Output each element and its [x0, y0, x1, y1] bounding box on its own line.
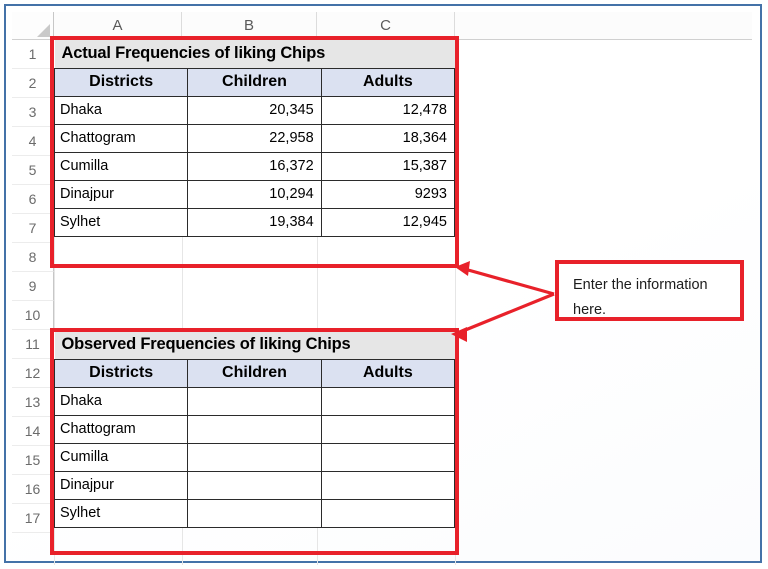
- table-observed-frequencies[interactable]: Observed Frequencies of liking Chips Dis…: [54, 331, 455, 528]
- cell-district[interactable]: Chattogram: [55, 124, 188, 152]
- table-row[interactable]: Cumilla: [55, 443, 455, 471]
- row-header-9[interactable]: 9: [12, 272, 54, 301]
- cell-children[interactable]: 20,345: [188, 96, 321, 124]
- table-title-row: Actual Frequencies of liking Chips: [55, 40, 455, 68]
- row-header-4[interactable]: 4: [12, 127, 54, 156]
- cell-adults[interactable]: 12,478: [321, 96, 454, 124]
- row-header-2[interactable]: 2: [12, 69, 54, 98]
- header-children: Children: [188, 68, 321, 96]
- cell-children-empty[interactable]: [188, 471, 321, 499]
- callout-line-2: here.: [573, 298, 728, 323]
- row-header-8[interactable]: 8: [12, 243, 54, 272]
- cell-adults-empty[interactable]: [321, 387, 454, 415]
- table-header-row: Districts Children Adults: [55, 68, 455, 96]
- arrow-line-lower: [458, 294, 554, 333]
- cell-children-empty[interactable]: [188, 415, 321, 443]
- row-header-13[interactable]: 13: [12, 388, 54, 417]
- arrow-line-upper: [461, 268, 554, 294]
- cell-district[interactable]: Cumilla: [55, 152, 188, 180]
- table-row[interactable]: Sylhet 19,384 12,945: [55, 208, 455, 236]
- cell-children-empty[interactable]: [188, 443, 321, 471]
- cell-district[interactable]: Dinajpur: [55, 471, 188, 499]
- table-header-row: Districts Children Adults: [55, 359, 455, 387]
- row-header-7[interactable]: 7: [12, 214, 54, 243]
- header-adults: Adults: [321, 68, 454, 96]
- cell-adults-empty[interactable]: [321, 499, 454, 527]
- table-row[interactable]: Chattogram 22,958 18,364: [55, 124, 455, 152]
- row-header-12[interactable]: 12: [12, 359, 54, 388]
- cell-district[interactable]: Chattogram: [55, 415, 188, 443]
- column-header-c[interactable]: C: [317, 12, 455, 40]
- table-row[interactable]: Dinajpur: [55, 471, 455, 499]
- table-row[interactable]: Dinajpur 10,294 9293: [55, 180, 455, 208]
- gridline: [455, 40, 456, 565]
- cell-children[interactable]: 16,372: [188, 152, 321, 180]
- table-row[interactable]: Cumilla 16,372 15,387: [55, 152, 455, 180]
- table-row[interactable]: Dhaka 20,345 12,478: [55, 96, 455, 124]
- cell-district[interactable]: Cumilla: [55, 443, 188, 471]
- select-all-button[interactable]: [12, 12, 54, 40]
- cell-children[interactable]: 19,384: [188, 208, 321, 236]
- worksheet-surface: A B C 1234567891011121314151617 Actual F…: [6, 6, 760, 561]
- row-header-17[interactable]: 17: [12, 504, 54, 533]
- header-districts: Districts: [55, 68, 188, 96]
- header-adults: Adults: [321, 359, 454, 387]
- callout-line-1: Enter the information: [573, 273, 728, 298]
- table-actual-title: Actual Frequencies of liking Chips: [55, 40, 455, 68]
- column-header-b[interactable]: B: [182, 12, 317, 40]
- table-row[interactable]: Dhaka: [55, 387, 455, 415]
- cell-children[interactable]: 22,958: [188, 124, 321, 152]
- header-districts: Districts: [55, 359, 188, 387]
- row-header-3[interactable]: 3: [12, 98, 54, 127]
- cell-adults-empty[interactable]: [321, 471, 454, 499]
- row-header-6[interactable]: 6: [12, 185, 54, 214]
- row-header-5[interactable]: 5: [12, 156, 54, 185]
- table-row[interactable]: Chattogram: [55, 415, 455, 443]
- table-title-row: Observed Frequencies of liking Chips: [55, 331, 455, 359]
- select-all-triangle-icon: [37, 24, 50, 37]
- arrow-head-upper: [455, 261, 470, 276]
- column-header-d[interactable]: [455, 12, 752, 40]
- cell-adults-empty[interactable]: [321, 443, 454, 471]
- cell-district[interactable]: Sylhet: [55, 208, 188, 236]
- cell-district[interactable]: Dinajpur: [55, 180, 188, 208]
- header-children: Children: [188, 359, 321, 387]
- table-actual-frequencies[interactable]: Actual Frequencies of liking Chips Distr…: [54, 40, 455, 237]
- cell-adults[interactable]: 15,387: [321, 152, 454, 180]
- row-header-1[interactable]: 1: [12, 40, 54, 69]
- table-row[interactable]: Sylhet: [55, 499, 455, 527]
- cell-district[interactable]: Dhaka: [55, 96, 188, 124]
- cell-adults-empty[interactable]: [321, 415, 454, 443]
- cell-children-empty[interactable]: [188, 387, 321, 415]
- row-header-16[interactable]: 16: [12, 475, 54, 504]
- table-observed-title: Observed Frequencies of liking Chips: [55, 331, 455, 359]
- cell-adults[interactable]: 18,364: [321, 124, 454, 152]
- callout-note: Enter the information here.: [555, 260, 744, 321]
- cell-children-empty[interactable]: [188, 499, 321, 527]
- cell-children[interactable]: 10,294: [188, 180, 321, 208]
- row-header-15[interactable]: 15: [12, 446, 54, 475]
- row-header-10[interactable]: 10: [12, 301, 54, 330]
- column-header-a[interactable]: A: [54, 12, 182, 40]
- cell-adults[interactable]: 9293: [321, 180, 454, 208]
- cell-adults[interactable]: 12,945: [321, 208, 454, 236]
- column-header-bar: A B C: [12, 12, 752, 40]
- cell-district[interactable]: Sylhet: [55, 499, 188, 527]
- cell-district[interactable]: Dhaka: [55, 387, 188, 415]
- screenshot-frame: A B C 1234567891011121314151617 Actual F…: [4, 4, 762, 563]
- row-header-14[interactable]: 14: [12, 417, 54, 446]
- row-header-11[interactable]: 11: [12, 330, 54, 359]
